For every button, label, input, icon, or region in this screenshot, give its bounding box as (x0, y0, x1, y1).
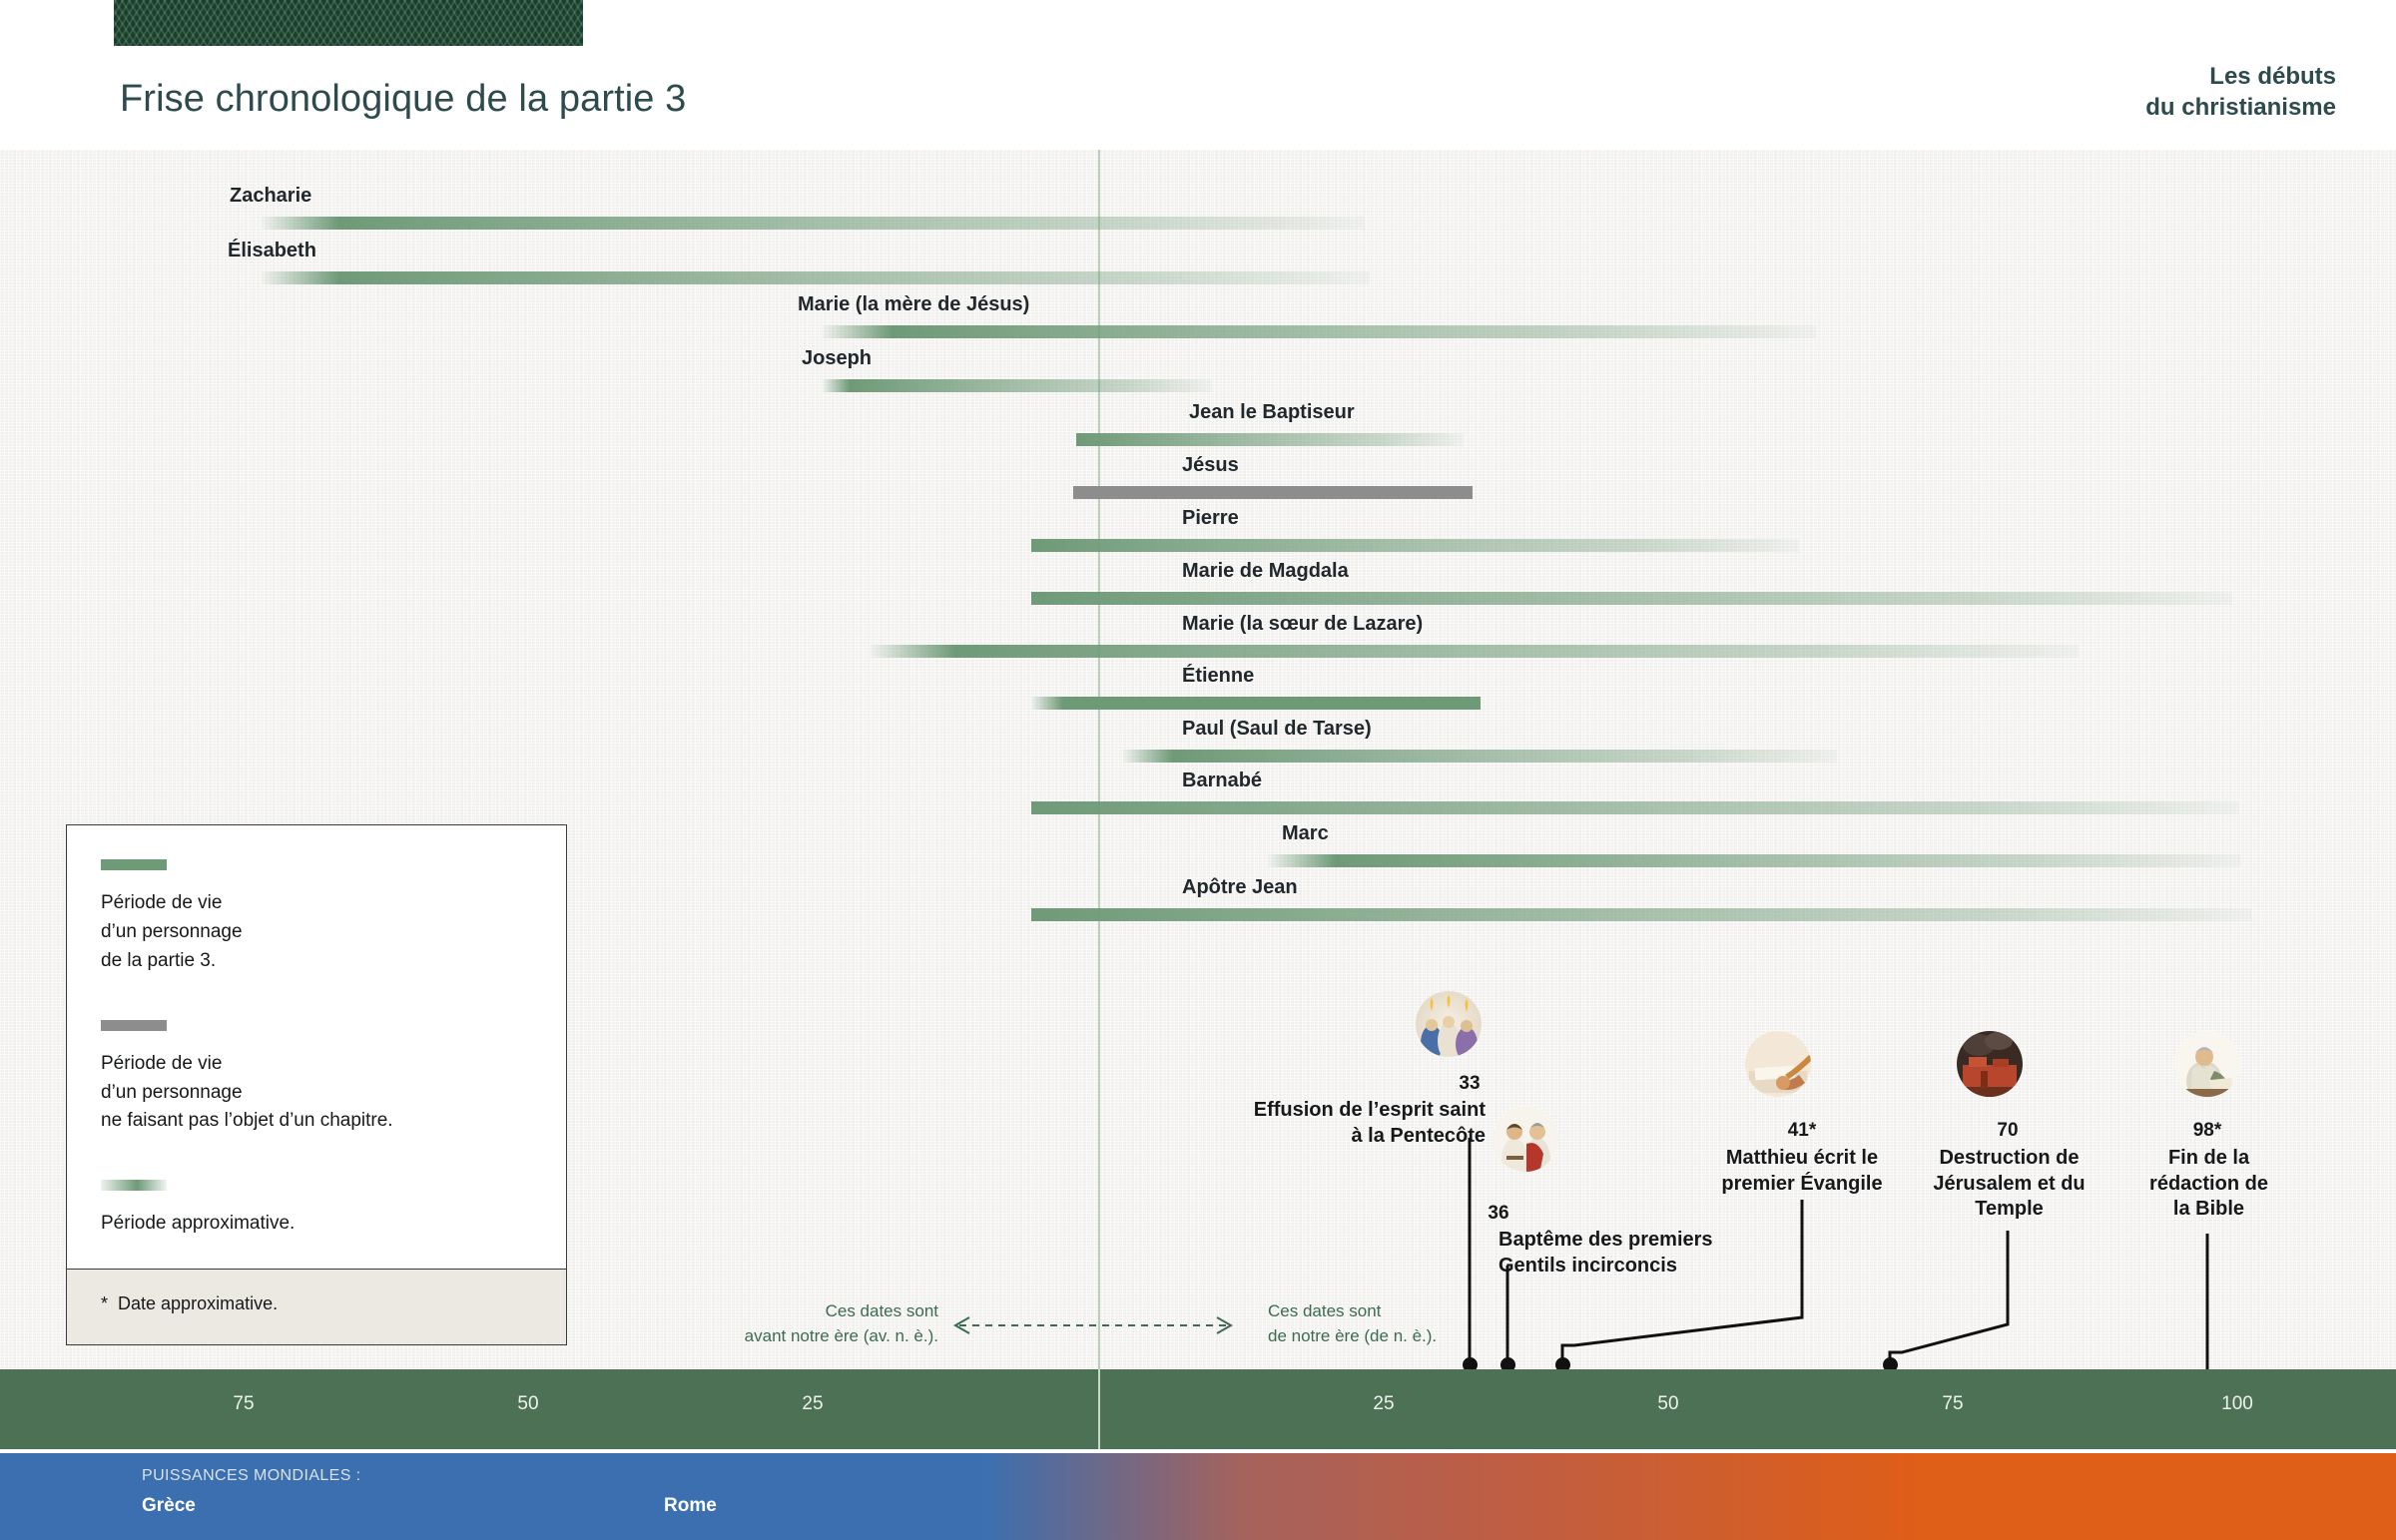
page-subtitle-line2: du christianisme (2145, 93, 2336, 124)
person-label-10: Paul (Saul de Tarse) (1182, 718, 1372, 741)
page-subtitle-line1: Les débuts (2145, 62, 2336, 93)
axis-zero-marker (1098, 1369, 1100, 1449)
event-label-line2-3: Jérusalem et du (1933, 1173, 2085, 1195)
page-subtitle: Les débuts du christianisme (2145, 62, 2336, 123)
event-year-0: 33 (1420, 1073, 1519, 1095)
event-label-line1-0: Effusion de l’esprit saint (1254, 1099, 1486, 1121)
axis-tick-0: 75 (233, 1393, 254, 1415)
event-label-line1-4: Fin de la (2168, 1147, 2249, 1169)
person-label-12: Marc (1282, 822, 1329, 845)
person-label-6: Pierre (1182, 507, 1239, 530)
legend-item-2-text: Période de vied’un personnagene faisant … (101, 1050, 532, 1137)
page-title: Frise chronologique de la partie 3 (120, 78, 686, 121)
person-bar-7 (1031, 592, 2232, 605)
era-note-after: Ces dates sont de notre ère (de n. è.). (1268, 1299, 1437, 1348)
person-label-1: Élisabeth (228, 240, 316, 262)
legend-swatch-faded-icon (101, 1180, 167, 1191)
era-note-before-line1: Ces dates sont (709, 1299, 938, 1324)
person-label-8: Marie (la sœur de Lazare) (1182, 613, 1423, 636)
event-label-line3-3: Temple (1975, 1198, 2044, 1220)
event-label-line2-4: rédaction de (2149, 1173, 2268, 1195)
event-image-4 (2174, 1031, 2240, 1097)
event-image-3 (1957, 1031, 2023, 1097)
person-label-5: Jésus (1182, 454, 1239, 477)
event-label-line2-1: Gentils incirconcis (1498, 1255, 1677, 1277)
person-label-2: Marie (la mère de Jésus) (798, 293, 1029, 316)
timeline-axis: 755025255075100 (0, 1369, 2396, 1449)
event-label-4: Fin de larédaction dela Bible (2106, 1146, 2311, 1223)
person-bar-2 (823, 325, 1816, 338)
person-bar-6 (1031, 539, 1799, 552)
era-note-after-line2: de notre ère (de n. è.). (1268, 1324, 1437, 1349)
event-image-1 (1493, 1106, 1558, 1172)
event-image-0 (1416, 991, 1482, 1057)
era-double-arrow-icon (943, 1310, 1243, 1340)
event-label-2: Matthieu écrit lepremier Évangile (1697, 1146, 1907, 1197)
person-label-11: Barnabé (1182, 770, 1262, 792)
person-bar-3 (823, 379, 1212, 392)
person-bar-10 (1123, 750, 1837, 763)
legend-box: Période de vied’un personnagede la parti… (66, 824, 567, 1345)
event-image-2 (1745, 1031, 1811, 1097)
event-label-line2-2: premier Évangile (1721, 1173, 1882, 1195)
person-label-7: Marie de Magdala (1182, 560, 1349, 583)
page-header: Frise chronologique de la partie 3 Les d… (0, 0, 2396, 150)
person-bar-1 (262, 271, 1370, 284)
event-label-1: Baptême des premiersGentils incirconcis (1498, 1228, 1798, 1279)
person-label-3: Joseph (802, 347, 872, 370)
event-year-1: 36 (1449, 1203, 1548, 1225)
timeline-infographic: Frise chronologique de la partie 3 Les d… (0, 0, 2396, 1540)
event-label-line1-1: Baptême des premiers (1498, 1229, 1713, 1251)
event-label-line1-2: Matthieu écrit le (1726, 1147, 1878, 1169)
event-label-3: Destruction deJérusalem et duTemple (1902, 1146, 2116, 1223)
person-label-9: Étienne (1182, 665, 1254, 688)
legend-swatch-grey-icon (101, 1020, 167, 1031)
axis-tick-1: 50 (517, 1393, 538, 1415)
person-label-13: Apôtre Jean (1182, 876, 1298, 899)
person-bar-9 (1031, 697, 1481, 710)
timeline-canvas: ZacharieÉlisabethMarie (la mère de Jésus… (0, 150, 2396, 1369)
event-year-3: 70 (1958, 1120, 2058, 1142)
brand-band-icon (114, 0, 583, 46)
event-label-0: Effusion de l’esprit saintà la Pentecôte (1250, 1098, 1486, 1149)
event-year-4: 98* (2157, 1120, 2257, 1142)
legend-swatch-green-icon (101, 859, 167, 870)
person-label-4: Jean le Baptiseur (1189, 401, 1355, 424)
world-powers-band: PUISSANCES MONDIALES : Grèce Rome (0, 1453, 2396, 1540)
legend-item-3-text: Période approximative. (101, 1210, 532, 1239)
person-bar-4 (1076, 433, 1464, 446)
person-bar-13 (1031, 908, 2251, 921)
event-label-line1-3: Destruction de (1939, 1147, 2079, 1169)
legend-body: Période de vied’un personnagede la parti… (67, 825, 566, 1269)
legend-item-1-text: Période de vied’un personnagede la parti… (101, 889, 532, 976)
world-power-greece-label: Grèce (142, 1495, 196, 1517)
axis-tick-2: 25 (802, 1393, 823, 1415)
person-bar-0 (262, 217, 1365, 230)
legend-footnote-text: Date approximative. (118, 1293, 278, 1313)
world-power-rome-label: Rome (664, 1495, 717, 1517)
person-bar-8 (871, 645, 2079, 658)
person-bar-5 (1073, 486, 1473, 499)
axis-tick-5: 75 (1942, 1393, 1963, 1415)
person-bar-11 (1031, 801, 2239, 814)
event-label-line2-0: à la Pentecôte (1351, 1125, 1486, 1147)
axis-tick-6: 100 (2221, 1393, 2253, 1415)
era-note-before-line2: avant notre ère (av. n. è.). (709, 1324, 938, 1349)
event-year-2: 41* (1752, 1120, 1852, 1142)
axis-tick-3: 25 (1373, 1393, 1394, 1415)
event-label-line3-4: la Bible (2173, 1198, 2244, 1220)
era-note-before: Ces dates sont avant notre ère (av. n. è… (709, 1299, 938, 1348)
person-label-0: Zacharie (230, 185, 311, 208)
axis-tick-4: 50 (1657, 1393, 1678, 1415)
era-note-after-line1: Ces dates sont (1268, 1299, 1437, 1324)
world-powers-caption: PUISSANCES MONDIALES : (142, 1467, 361, 1485)
legend-footnote: *Date approximative. (67, 1269, 566, 1344)
legend-footnote-symbol: * (101, 1293, 108, 1313)
person-bar-12 (1268, 854, 2241, 867)
